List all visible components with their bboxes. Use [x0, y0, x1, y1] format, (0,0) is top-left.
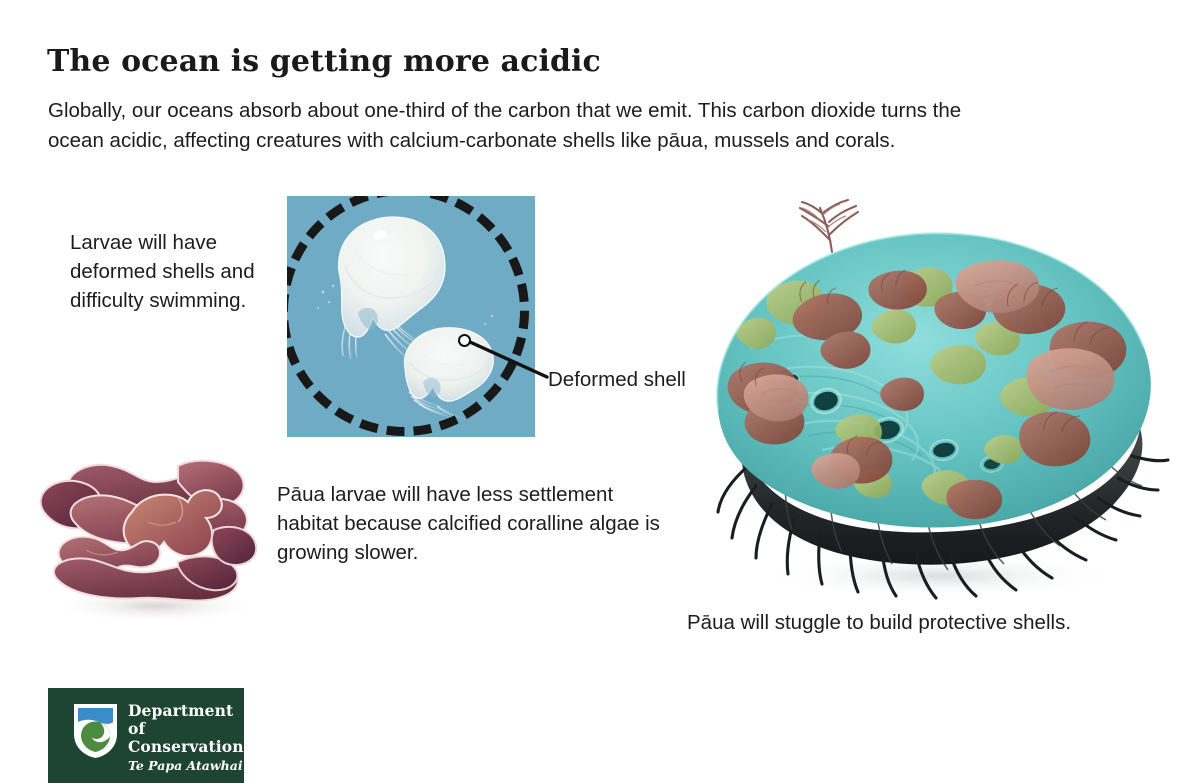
doc-logo-line2: Conservation	[128, 738, 244, 756]
deformed-shell-marker	[458, 334, 471, 347]
page-title: The ocean is getting more acidic	[47, 44, 601, 79]
doc-logo-line1: Department of	[128, 702, 244, 738]
department-of-conservation-logo: Department of Conservation Te Papa Atawh…	[48, 688, 244, 783]
coralline-algae-illustration	[28, 438, 268, 628]
callout-algae-text: Pāua larvae will have less settlement ha…	[277, 480, 677, 567]
callout-larvae-text: Larvae will have deformed shells and dif…	[70, 228, 275, 315]
infographic-canvas: The ocean is getting more acidic Globall…	[0, 0, 1200, 783]
callout-deformed-shell-text: Deformed shell	[548, 365, 698, 394]
doc-shield-icon	[72, 702, 119, 760]
intro-paragraph: Globally, our oceans absorb about one-th…	[48, 96, 1008, 156]
callout-paua-text: Pāua will stuggle to build protective sh…	[687, 608, 1187, 637]
doc-logo-line3: Te Papa Atawhai	[128, 757, 244, 774]
larvae-illustration-panel	[287, 196, 535, 437]
doc-logo-text: Department of Conservation Te Papa Atawh…	[128, 702, 244, 774]
paua-shell-illustration	[690, 198, 1190, 608]
